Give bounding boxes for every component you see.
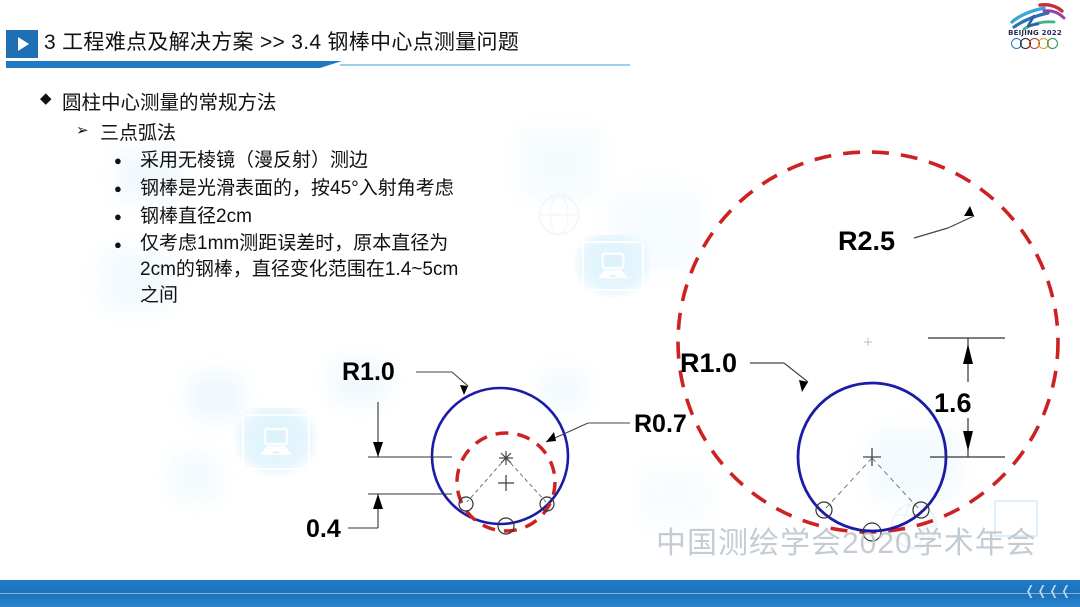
bullet-level2: ➢ 三点弧法 bbox=[76, 118, 660, 145]
bullet-level3: ● 采用无棱镜（漫反射）测边 bbox=[114, 147, 660, 174]
slide-canvas: 3 工程难点及解决方案 >> 3.4 钢棒中心点测量问题 BEIJING 202… bbox=[0, 0, 1080, 607]
bullet-level1-text: 圆柱中心测量的常规方法 bbox=[62, 86, 277, 115]
bg-blob bbox=[170, 455, 220, 499]
label-r1: R1.0 bbox=[680, 348, 737, 378]
apex-cross-marker bbox=[499, 451, 513, 465]
bullet-level3-text: 采用无棱镜（漫反射）测边 bbox=[140, 147, 368, 174]
dot-bullet-icon: ● bbox=[114, 203, 140, 230]
header-underline-taper bbox=[320, 61, 342, 68]
bullet-level3-text: 仅考虑1mm测距误差时，原本直径为 2cm的钢棒，直径变化范围在1.4~5cm … bbox=[140, 231, 458, 309]
header-underline-thin bbox=[340, 64, 630, 66]
chevron-left-icon: ❬❬❬❬ bbox=[1024, 583, 1072, 599]
olympic-logo-text: BEIJING 2022 bbox=[996, 29, 1074, 37]
dot-bullet-icon: ● bbox=[114, 231, 140, 258]
beijing-2022-olympic-logo: BEIJING 2022 bbox=[996, 2, 1074, 52]
bullet-level2-text: 三点弧法 bbox=[100, 118, 176, 145]
bullet-level3: ● 仅考虑1mm测距误差时，原本直径为 2cm的钢棒，直径变化范围在1.4~5c… bbox=[114, 231, 660, 309]
olympic-emblem-icon bbox=[1004, 2, 1070, 32]
laptop-glyph bbox=[256, 425, 296, 459]
dim-arrow-down bbox=[963, 344, 973, 364]
leader-r07 bbox=[546, 423, 630, 442]
measured-points bbox=[459, 497, 554, 534]
center-cross-marker bbox=[498, 475, 514, 491]
dim-arrow-up bbox=[963, 431, 973, 451]
page-title: 3 工程难点及解决方案 >> 3.4 钢棒中心点测量问题 bbox=[44, 26, 519, 56]
outer-center-marker bbox=[864, 338, 872, 346]
label-r1: R1.0 bbox=[342, 358, 395, 386]
leader-r1 bbox=[416, 372, 468, 395]
diamond-bullet-icon: ◆ bbox=[40, 86, 62, 112]
bullet-level3-text: 钢棒是光滑表面的，按45°入射角考虑 bbox=[140, 175, 454, 202]
solid-circle-r1 bbox=[432, 388, 568, 524]
leader-r1 bbox=[750, 363, 808, 392]
bullet-line: 仅考虑1mm测距误差时，原本直径为 bbox=[140, 233, 448, 254]
leader-r25 bbox=[914, 206, 974, 238]
bullet-level3: ● 钢棒直径2cm bbox=[114, 203, 660, 230]
label-r25: R2.5 bbox=[838, 226, 895, 256]
dot-bullet-icon: ● bbox=[114, 147, 140, 174]
dimension-0p4 bbox=[348, 402, 452, 528]
bullet-line: 2cm的钢棒，直径变化范围在1.4~5cm bbox=[140, 259, 458, 280]
slide-header: 3 工程难点及解决方案 >> 3.4 钢棒中心点测量问题 bbox=[0, 28, 1080, 62]
bullet-level1: ◆ 圆柱中心测量的常规方法 bbox=[40, 86, 660, 115]
footer-hairline bbox=[0, 593, 1080, 594]
dim-arrow-down bbox=[373, 442, 383, 457]
bullet-level3: ● 钢棒是光滑表面的，按45°入射角考虑 bbox=[114, 175, 660, 202]
dim-arrow-up bbox=[373, 494, 383, 509]
label-0p4: 0.4 bbox=[306, 515, 341, 543]
bullet-level3-text: 钢棒直径2cm bbox=[140, 203, 252, 230]
center-cross-marker bbox=[863, 448, 881, 466]
right-diagram: R2.5 R1.0 1.6 bbox=[640, 120, 1070, 550]
play-triangle-icon bbox=[6, 30, 38, 58]
content-bullet-list: ◆ 圆柱中心测量的常规方法 ➢ 三点弧法 ● 采用无棱镜（漫反射）测边 ● 钢棒… bbox=[40, 86, 660, 310]
watermark-text: 中国测绘学会2020学术年会 bbox=[656, 518, 1037, 562]
dot-bullet-icon: ● bbox=[114, 175, 140, 202]
bullet-line: 之间 bbox=[140, 285, 178, 306]
bg-blob bbox=[188, 372, 244, 420]
arrow-bullet-icon: ➢ bbox=[76, 118, 100, 144]
slide-footer: ❬❬❬❬ bbox=[0, 580, 1080, 607]
olympic-rings-icon bbox=[996, 38, 1074, 49]
header-underline-thick bbox=[6, 61, 320, 68]
label-1p6: 1.6 bbox=[934, 388, 972, 418]
